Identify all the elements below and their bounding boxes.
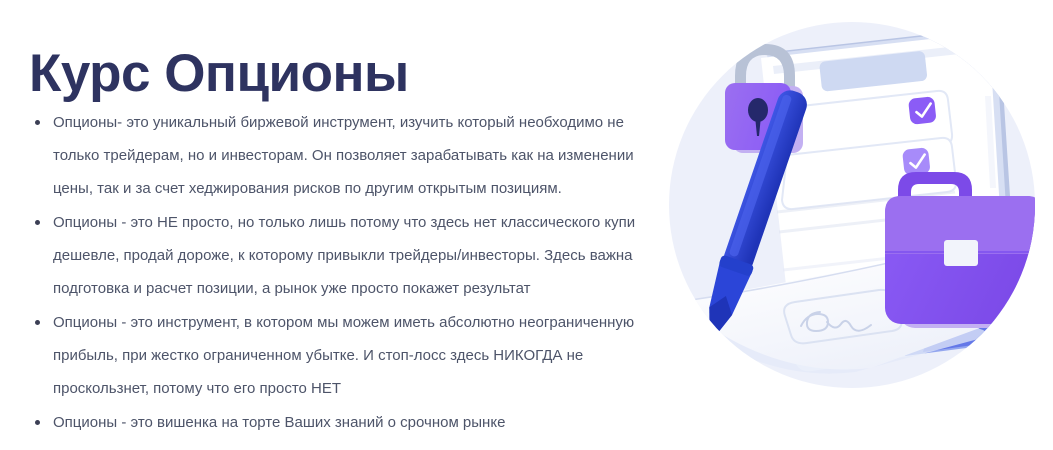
list-item: Опционы- это уникальный биржевой инструм… [30,106,650,205]
bullet-dot-icon [35,220,40,225]
briefcase-latch [944,240,978,266]
list-item-text: Опционы - это инструмент, в котором мы м… [53,314,634,397]
list-item: Опционы - это инструмент, в котором мы м… [30,306,650,405]
list-item: Опционы - это НЕ просто, но только лишь … [30,206,650,305]
text-content-column: Курс Опционы Опционы- это уникальный бир… [0,0,670,450]
page-title: Курс Опционы [29,44,409,105]
page-root: Курс Опционы Опционы- это уникальный бир… [0,0,1053,450]
benefits-list: Опционы- это уникальный биржевой инструм… [30,106,650,440]
checkbox-checked-first [908,96,937,125]
list-item-text: Опционы - это НЕ просто, но только лишь … [53,214,635,297]
list-item-text: Опционы- это уникальный биржевой инструм… [53,114,634,197]
bullet-dot-icon [35,120,40,125]
bullet-dot-icon [35,320,40,325]
list-item: Опционы - это вишенка на торте Ваших зна… [30,406,650,439]
bullet-dot-icon [35,420,40,425]
checkbox-checked-second [902,147,931,176]
signed-contract-illustration [655,0,1053,450]
list-item-text: Опционы - это вишенка на торте Ваших зна… [53,414,505,431]
